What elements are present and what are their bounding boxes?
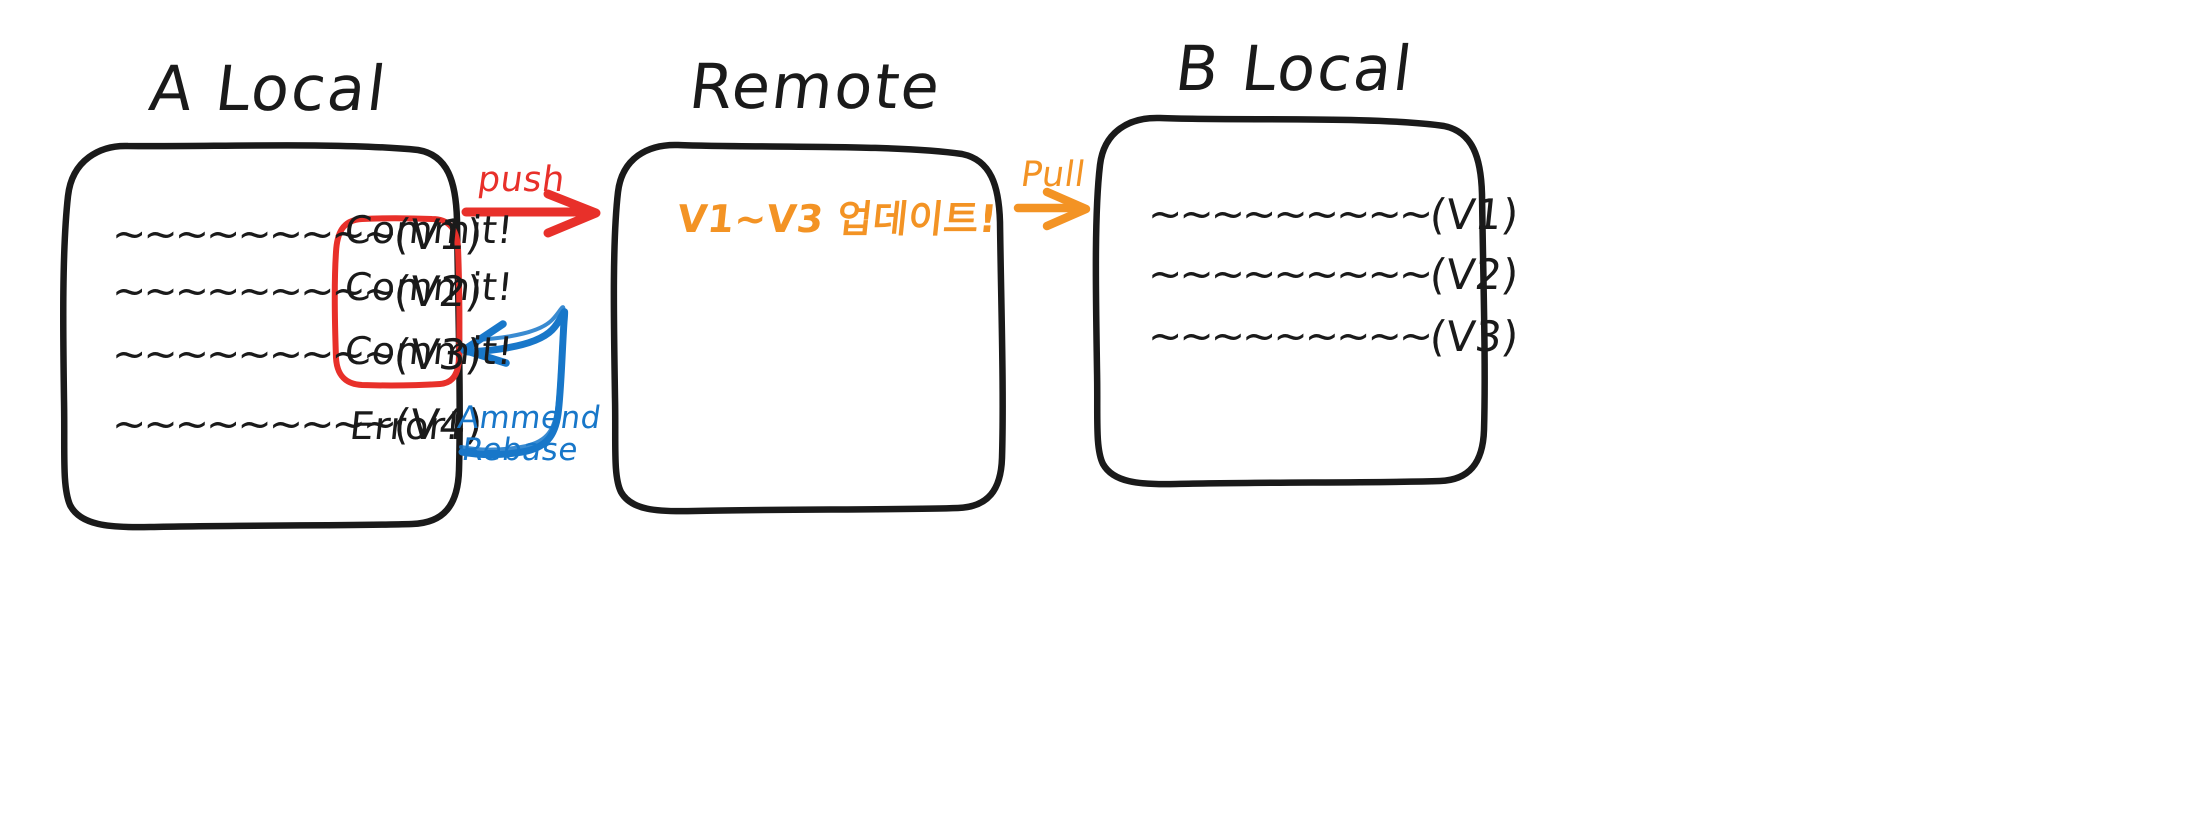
b-local-line-2: ~~~~~~~~~ (V2) [1148,250,1518,299]
version-tag: (V2) [1428,250,1521,299]
commit-note-v2: Commit! [343,265,516,309]
push-arrow-label: push [475,160,567,200]
rebase-label: Rebase [459,432,580,468]
squiggle-line: ~~~~~~~~~ [1148,254,1430,295]
pull-arrow [1018,192,1086,226]
error-note-v4: Error! [348,404,463,448]
ammend-label: Ammend [455,400,603,436]
version-tag: (V1) [1428,190,1521,239]
squiggle-line: ~~~~~~~~~ [1148,194,1430,235]
b-local-line-3: ~~~~~~~~~ (V3) [1148,312,1518,361]
commit-note-v3: Commit! [343,329,516,373]
pull-arrow-label: Pull [1018,155,1088,195]
version-tag: (V3) [1428,312,1521,361]
remote-update-note: V1~V3 업데이트! [675,188,1000,243]
panel-title-remote: Remote [686,50,946,123]
commit-note-v1: Commit! [343,208,516,252]
b-local-line-1: ~~~~~~~~~ (V1) [1148,190,1518,239]
panel-title-b-local: B Local [1172,32,1418,105]
b-local-box-outline [1096,118,1485,484]
diagram-canvas: A Local ~~~~~~~~~ (V1) Commit! ~~~~~~~~~… [0,0,2208,816]
squiggle-line: ~~~~~~~~~ [1148,316,1430,357]
panel-title-a-local: A Local [146,52,392,125]
